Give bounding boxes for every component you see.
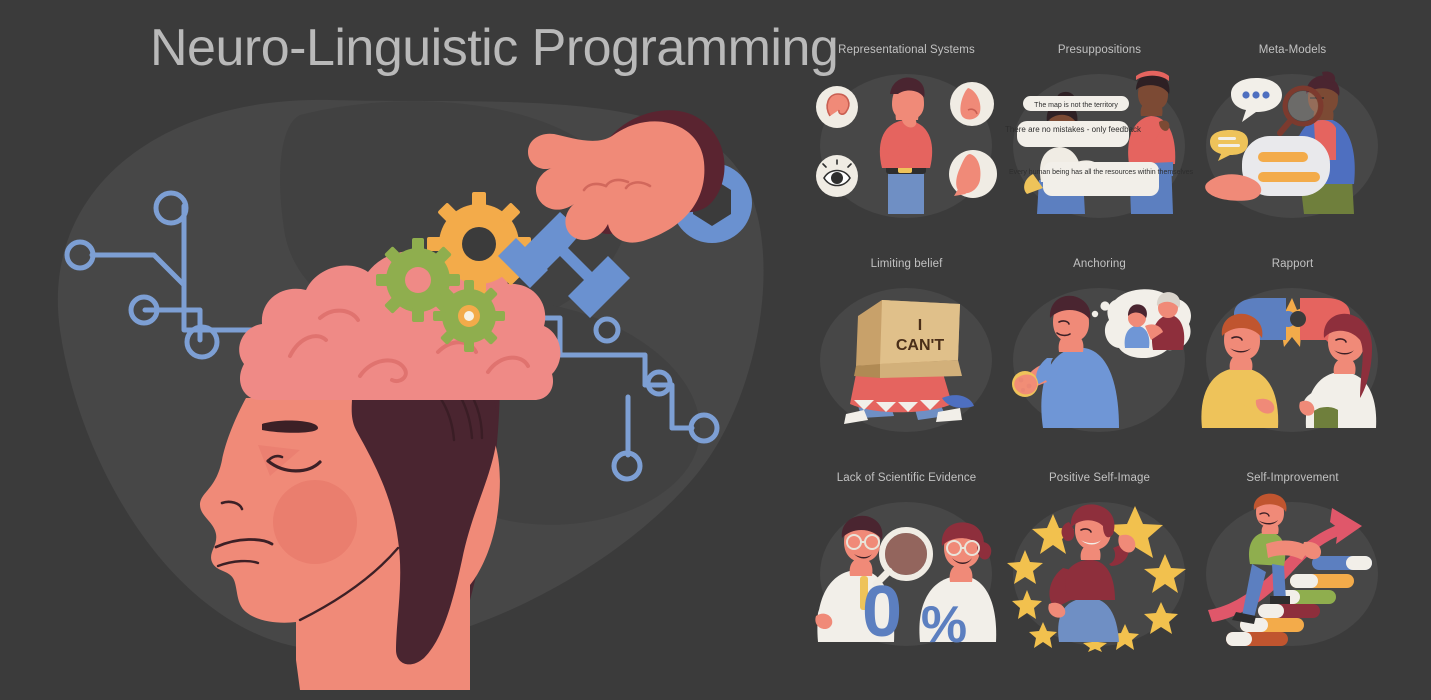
jeans	[888, 172, 924, 214]
sense-icon-ear	[816, 86, 858, 128]
box-text-line2: CAN'T	[896, 337, 944, 354]
sense-icon-eye	[816, 155, 858, 197]
quote-text-1: The map is not the territory	[1034, 102, 1118, 109]
cell-anchoring[interactable]: Anchoring	[1003, 258, 1196, 472]
skirt	[1314, 407, 1338, 428]
art-self-improvement	[1196, 492, 1389, 652]
cell-label-lack-of-scientific-evidence: Lack of Scientific Evidence	[810, 472, 1003, 484]
infographic-root: Neuro-Linguistic Programming	[0, 0, 1431, 700]
quote-text-2-line: There are no mistakes - only feedback	[1005, 125, 1142, 134]
cell-presuppositions[interactable]: Presuppositions	[1003, 44, 1196, 258]
art-presuppositions: The map is not the territory There are n…	[1003, 64, 1196, 224]
art-positive-self-image	[1003, 492, 1196, 652]
concept-grid: Representational Systems	[810, 44, 1410, 664]
cell-lack-of-scientific-evidence[interactable]: Lack of Scientific Evidence	[810, 472, 1003, 686]
art-anchoring	[1003, 278, 1196, 438]
cheek-blush	[273, 480, 357, 564]
bubble-text-bar	[1258, 172, 1320, 182]
art-meta-models	[1196, 64, 1389, 224]
thought-bubble	[1105, 289, 1191, 358]
cell-label-limiting-belief: Limiting belief	[810, 258, 1003, 270]
cell-label-positive-self-image: Positive Self-Image	[1003, 472, 1196, 484]
cell-label-presuppositions: Presuppositions	[1003, 44, 1196, 56]
art-lack-of-scientific-evidence: 0 %	[810, 492, 1003, 652]
cell-label-representational-systems: Representational Systems	[810, 44, 1003, 56]
hero-illustration	[0, 0, 800, 700]
book	[1226, 632, 1288, 646]
zero-digit: 0	[862, 572, 902, 652]
percent-sign: %	[921, 596, 967, 652]
cardboard-box: I CAN'T	[854, 300, 962, 378]
art-representational-systems	[810, 64, 1003, 224]
hero-section: Neuro-Linguistic Programming	[0, 0, 800, 700]
cell-label-meta-models: Meta-Models	[1196, 44, 1389, 56]
bubble-text-bar	[1258, 152, 1308, 162]
book	[1290, 574, 1354, 588]
art-limiting-belief: I CAN'T	[810, 278, 1003, 438]
box-text-line1: I	[918, 317, 922, 334]
sense-icon-nose	[950, 82, 994, 126]
cell-positive-self-image[interactable]: Positive Self-Image	[1003, 472, 1196, 686]
cell-label-rapport: Rapport	[1196, 258, 1389, 270]
gear-green-small	[433, 280, 505, 352]
art-rapport	[1196, 278, 1389, 438]
thought-dot	[1092, 311, 1098, 317]
quote-bubble-1: The map is not the territory	[1023, 96, 1129, 111]
shoe	[1270, 596, 1290, 604]
cell-representational-systems[interactable]: Representational Systems	[810, 44, 1003, 258]
quote-bubble-2: There are no mistakes - only feedback	[1005, 121, 1142, 147]
sense-icon-hand	[949, 150, 997, 198]
cell-label-anchoring: Anchoring	[1003, 258, 1196, 270]
cell-rapport[interactable]: Rapport	[1196, 258, 1389, 472]
cell-self-improvement[interactable]: Self-Improvement	[1196, 472, 1389, 686]
book	[1312, 556, 1372, 570]
book	[1258, 604, 1320, 618]
quote-text-3: Every human being has all the resources …	[1009, 169, 1194, 176]
cell-limiting-belief[interactable]: Limiting belief	[810, 258, 1003, 472]
cell-label-self-improvement: Self-Improvement	[1196, 472, 1389, 484]
cell-meta-models[interactable]: Meta-Models	[1196, 44, 1389, 258]
